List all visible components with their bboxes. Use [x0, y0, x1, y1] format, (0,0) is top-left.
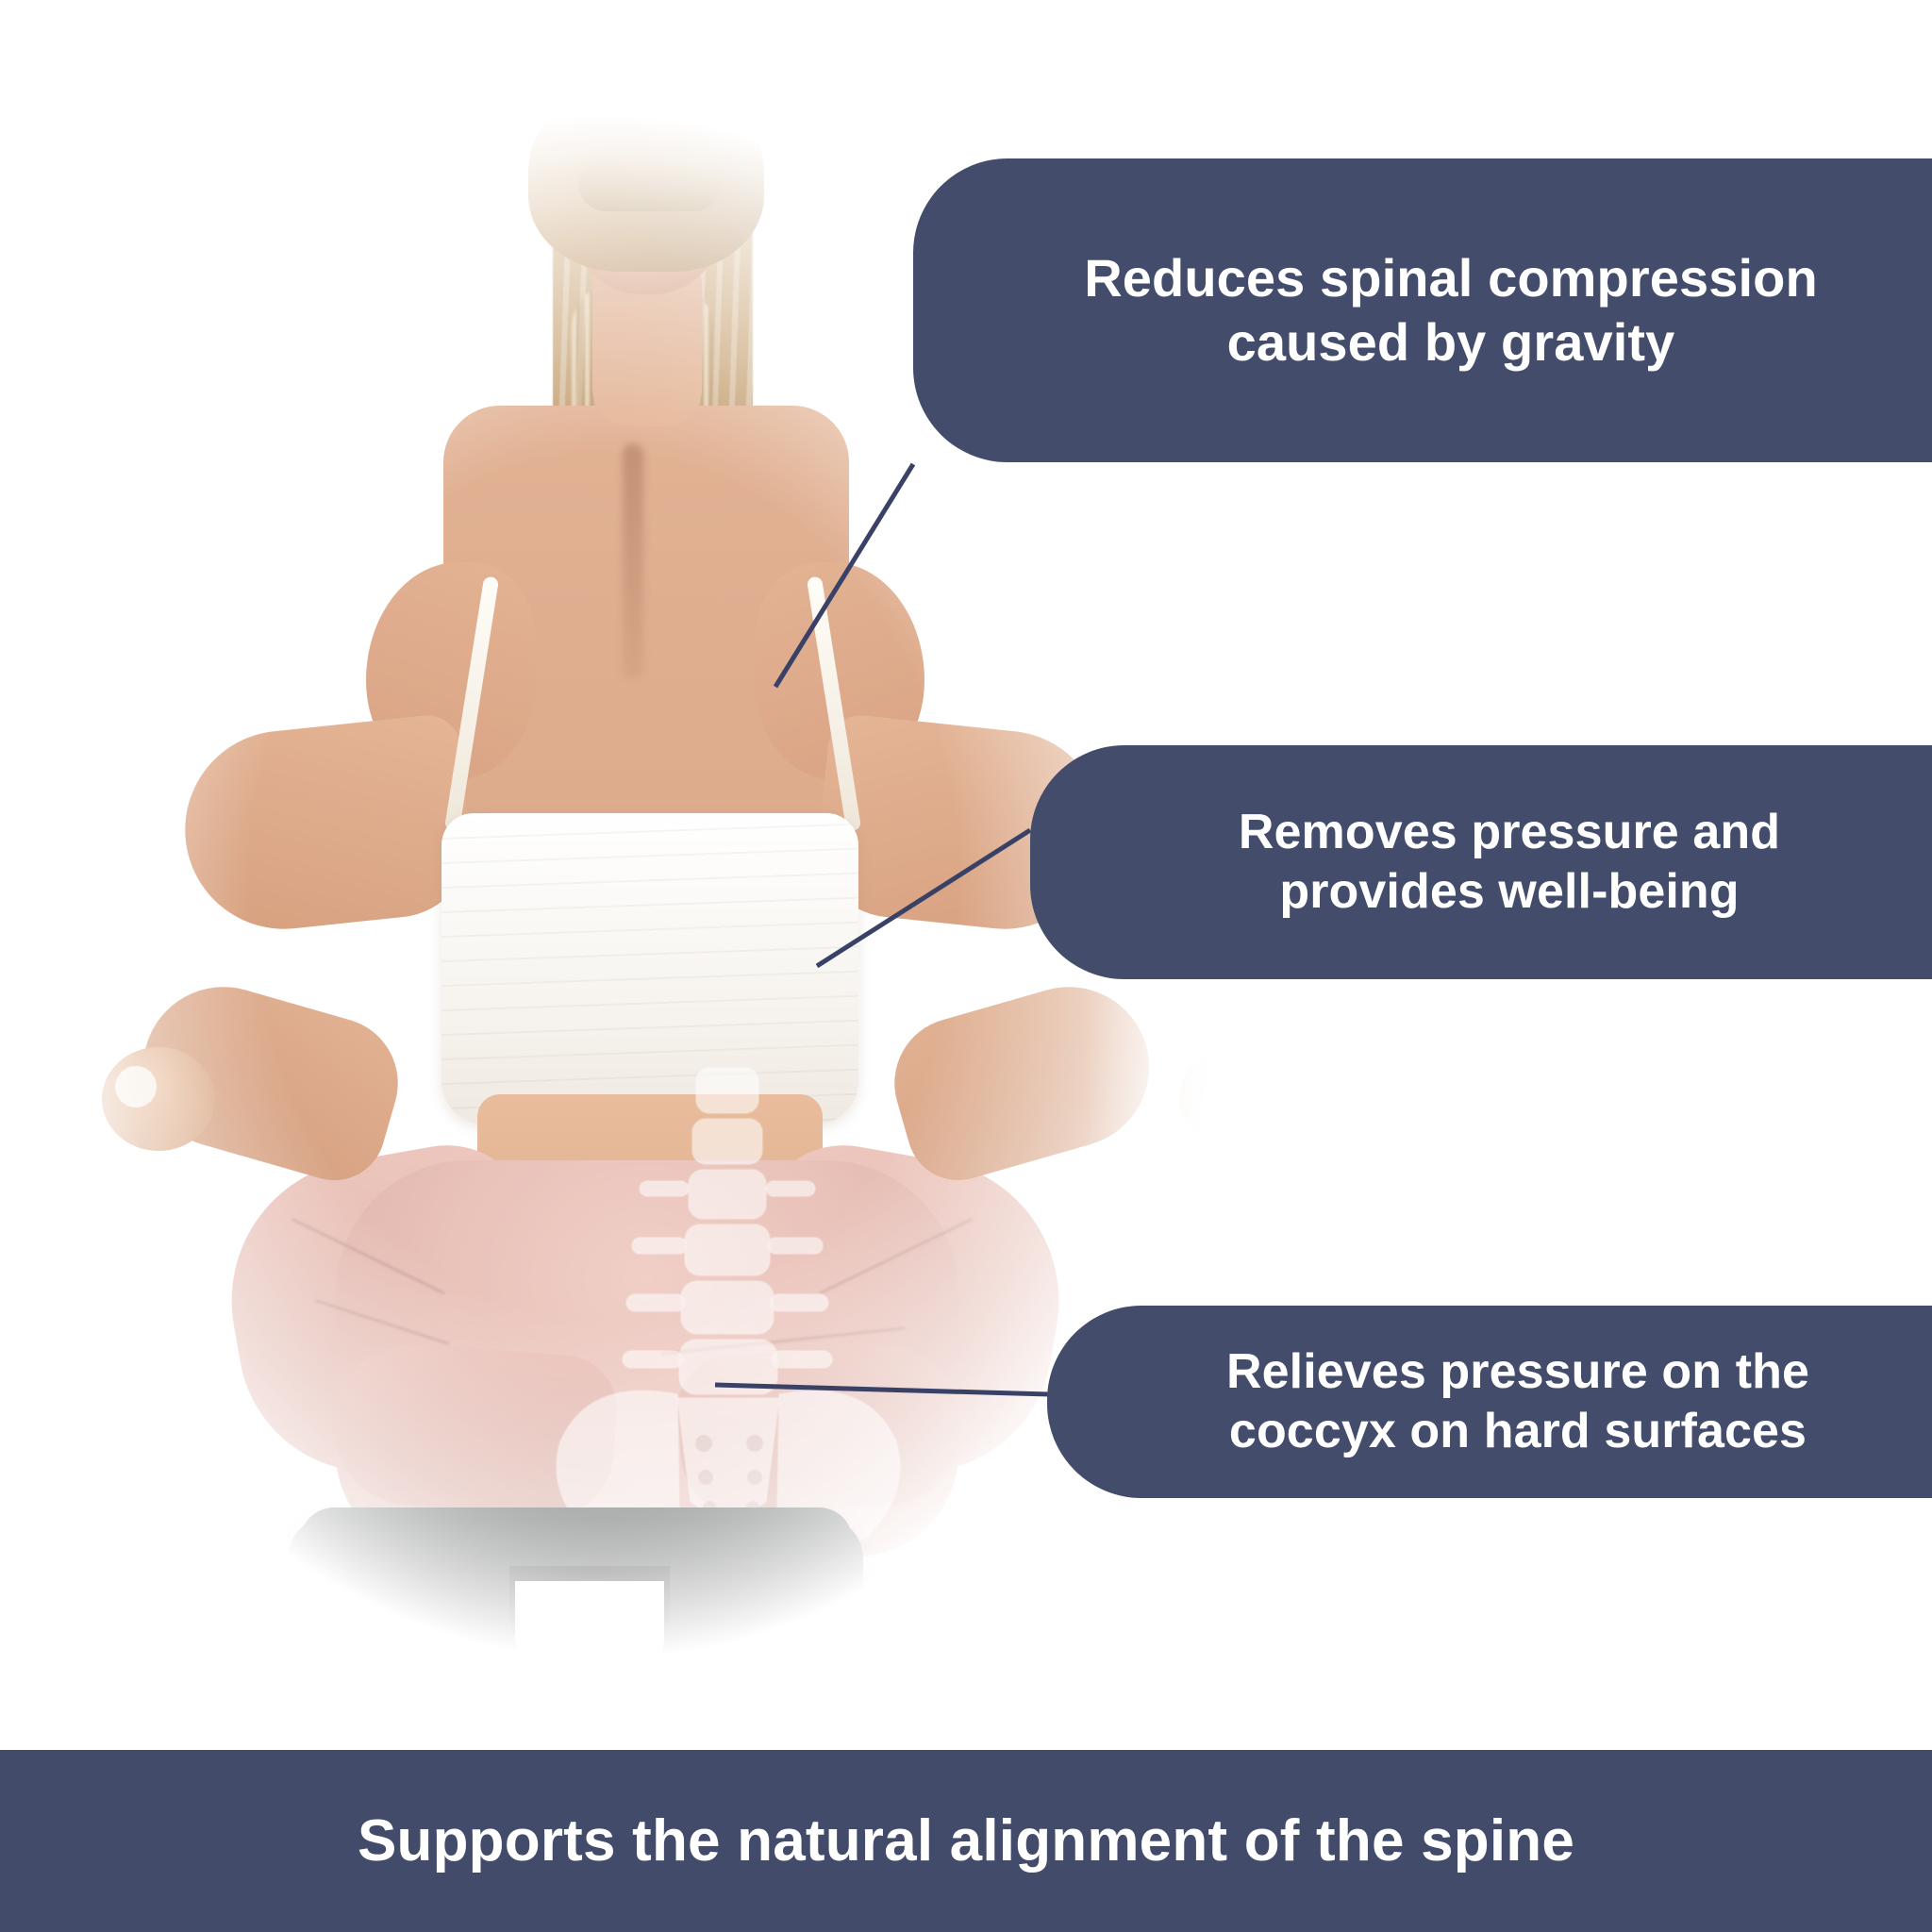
spine-pelvis-xray-overlay — [528, 1066, 924, 1557]
callout-reduces-spinal-compression[interactable]: Reduces spinal compression caused by gra… — [913, 158, 1932, 462]
callout-3-text: Relieves pressure on the coccyx on hard … — [1226, 1342, 1809, 1462]
callout-removes-pressure[interactable]: Removes pressure and provides well-being — [1030, 745, 1932, 979]
infographic-canvas: Reduces spinal compression caused by gra… — [0, 0, 1932, 1932]
model-right-hand-mudra — [1179, 1047, 1226, 1151]
bottom-banner: Supports the natural alignment of the sp… — [0, 1750, 1932, 1932]
coccyx-cutout — [515, 1581, 664, 1704]
spine-groove-shadow — [623, 443, 643, 679]
callout-relieves-coccyx-pressure[interactable]: Relieves pressure on the coccyx on hard … — [1047, 1306, 1932, 1498]
callout-1-line-1: Reduces spinal compression — [1084, 246, 1818, 310]
banner-headline: Supports the natural alignment of the sp… — [358, 1807, 1574, 1874]
model-left-upper-arm — [175, 712, 477, 939]
callout-3-line-2: coccyx on hard surfaces — [1226, 1402, 1809, 1461]
callout-2-line-1: Removes pressure and — [1239, 803, 1780, 862]
callout-1-line-2: caused by gravity — [1084, 310, 1818, 375]
callout-3-line-1: Relieves pressure on the — [1226, 1342, 1809, 1402]
left-hand-fingertips — [115, 1066, 157, 1108]
callout-2-text: Removes pressure and provides well-being — [1239, 803, 1780, 923]
callout-2-line-2: provides well-being — [1239, 862, 1780, 922]
callout-1-text: Reduces spinal compression caused by gra… — [1084, 246, 1818, 375]
hair-tie — [579, 158, 721, 211]
